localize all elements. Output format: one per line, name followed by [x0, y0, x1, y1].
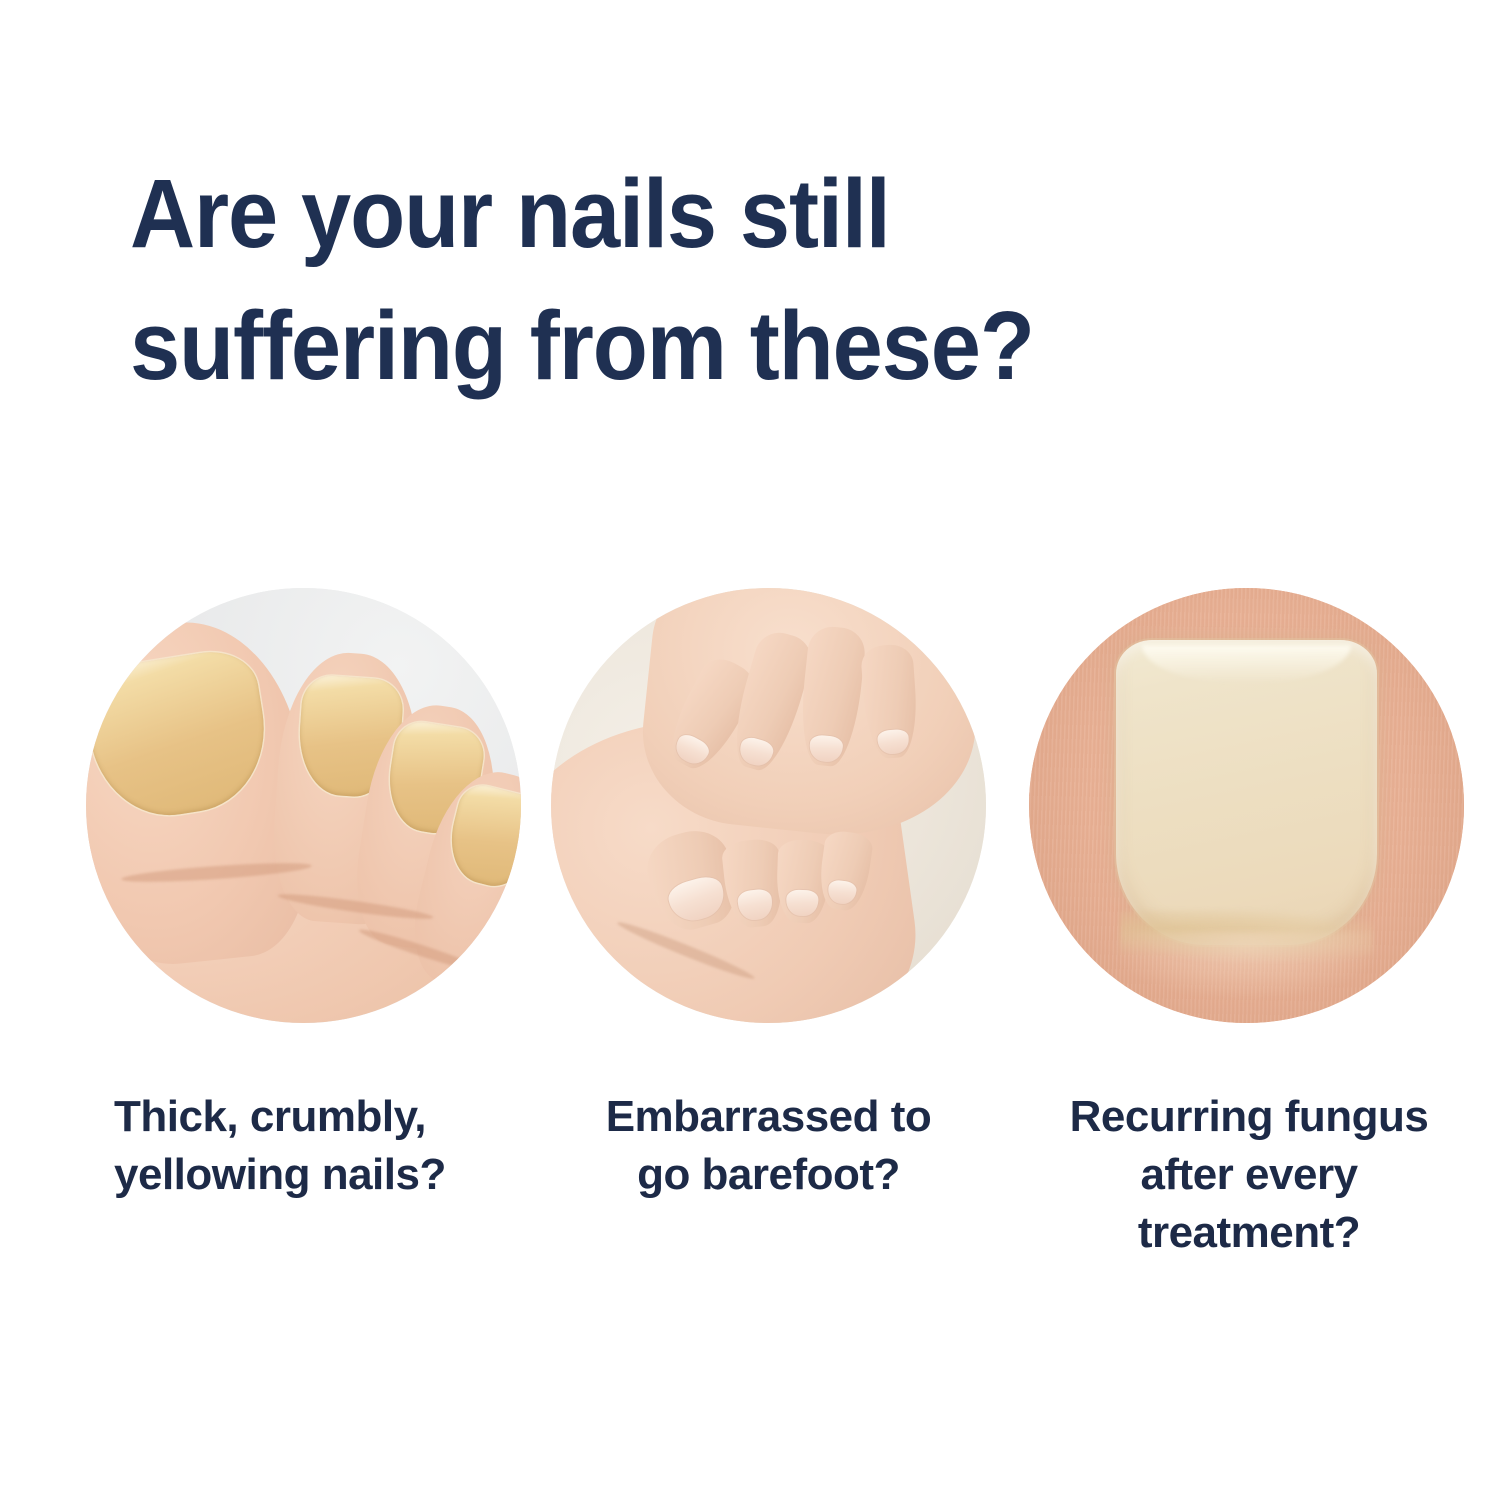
photo-hand-on-foot — [551, 588, 986, 1023]
caption-recurring-fungus: Recurring fungus after every treatment? — [1029, 1088, 1469, 1262]
toenail-yellow-1 — [86, 645, 276, 826]
photo-macro-fungal-nail — [1029, 588, 1464, 1023]
symptom-card-barefoot: Embarrassed to go barefoot? — [551, 588, 986, 1023]
toenail — [786, 889, 818, 917]
toenail — [665, 872, 728, 926]
cuticle — [1107, 932, 1385, 1002]
fingernail — [878, 728, 910, 754]
caption-yellowing-nails: Thick, crumbly, yellowing nails? — [114, 1088, 534, 1204]
fingernail — [809, 734, 844, 764]
promo-banner: Are your nails still suffering from thes… — [0, 0, 1500, 1500]
symptom-card-recurring-fungus: Recurring fungus after every treatment? — [1029, 588, 1464, 1023]
page-title: Are your nails still suffering from thes… — [130, 148, 1311, 412]
caption-barefoot: Embarrassed to go barefoot? — [551, 1088, 986, 1204]
toenail — [737, 889, 774, 922]
symptom-card-yellowing-nails: Thick, crumbly, yellowing nails? — [86, 588, 521, 1023]
toenail — [826, 878, 858, 905]
nail-plate — [1116, 640, 1377, 945]
photo-yellowing-toenails — [86, 588, 521, 1023]
